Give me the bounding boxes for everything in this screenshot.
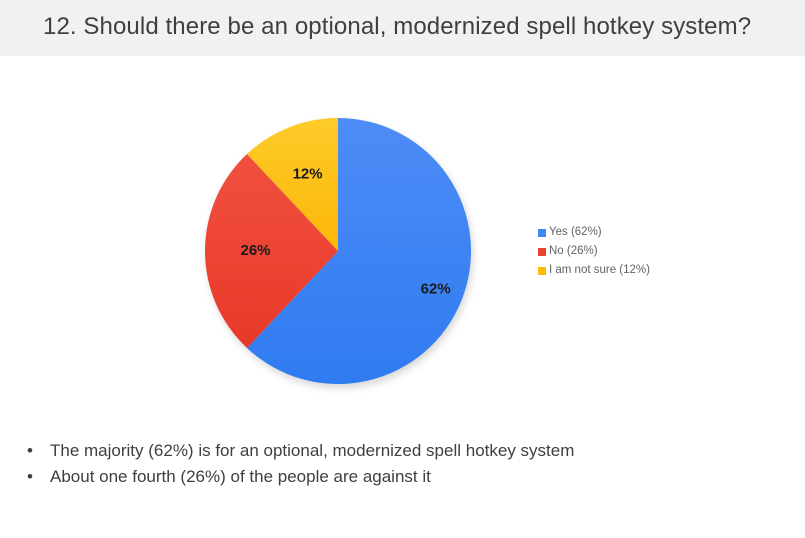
page-title: 12. Should there be an optional, moderni… (43, 13, 751, 41)
legend-swatch-not-sure (538, 267, 546, 275)
pie-chart-graphic: 62%26%12% (205, 118, 471, 384)
legend-label-yes: Yes (62%) (549, 223, 602, 242)
chart-legend: Yes (62%) No (26%) I am not sure (12%) (538, 223, 678, 280)
pie-slice-label-no: 26% (240, 242, 270, 259)
bullet-marker: • (27, 464, 50, 489)
legend-item-yes[interactable]: Yes (62%) (538, 223, 678, 242)
summary-bullet-list: • The majority (62%) is for an optional,… (27, 438, 767, 490)
pie-chart: 62%26%12% Yes (62%) No (26%) I am not su… (0, 56, 805, 416)
bullet-text: About one fourth (26%) of the people are… (50, 464, 431, 489)
bullet-text: The majority (62%) is for an optional, m… (50, 438, 574, 463)
pie-slice-label-i-am-not-sure: 12% (293, 165, 323, 182)
legend-item-no[interactable]: No (26%) (538, 242, 678, 261)
legend-swatch-yes (538, 229, 546, 237)
legend-swatch-no (538, 248, 546, 256)
list-item: • The majority (62%) is for an optional,… (27, 438, 767, 463)
legend-item-not-sure[interactable]: I am not sure (12%) (538, 261, 678, 280)
list-item: • About one fourth (26%) of the people a… (27, 464, 767, 489)
legend-label-not-sure: I am not sure (12%) (549, 261, 650, 280)
bullet-marker: • (27, 438, 50, 463)
pie-slices-svg: 62%26%12% (205, 118, 471, 384)
pie-slice-label-yes: 62% (421, 281, 451, 298)
legend-label-no: No (26%) (549, 242, 598, 261)
